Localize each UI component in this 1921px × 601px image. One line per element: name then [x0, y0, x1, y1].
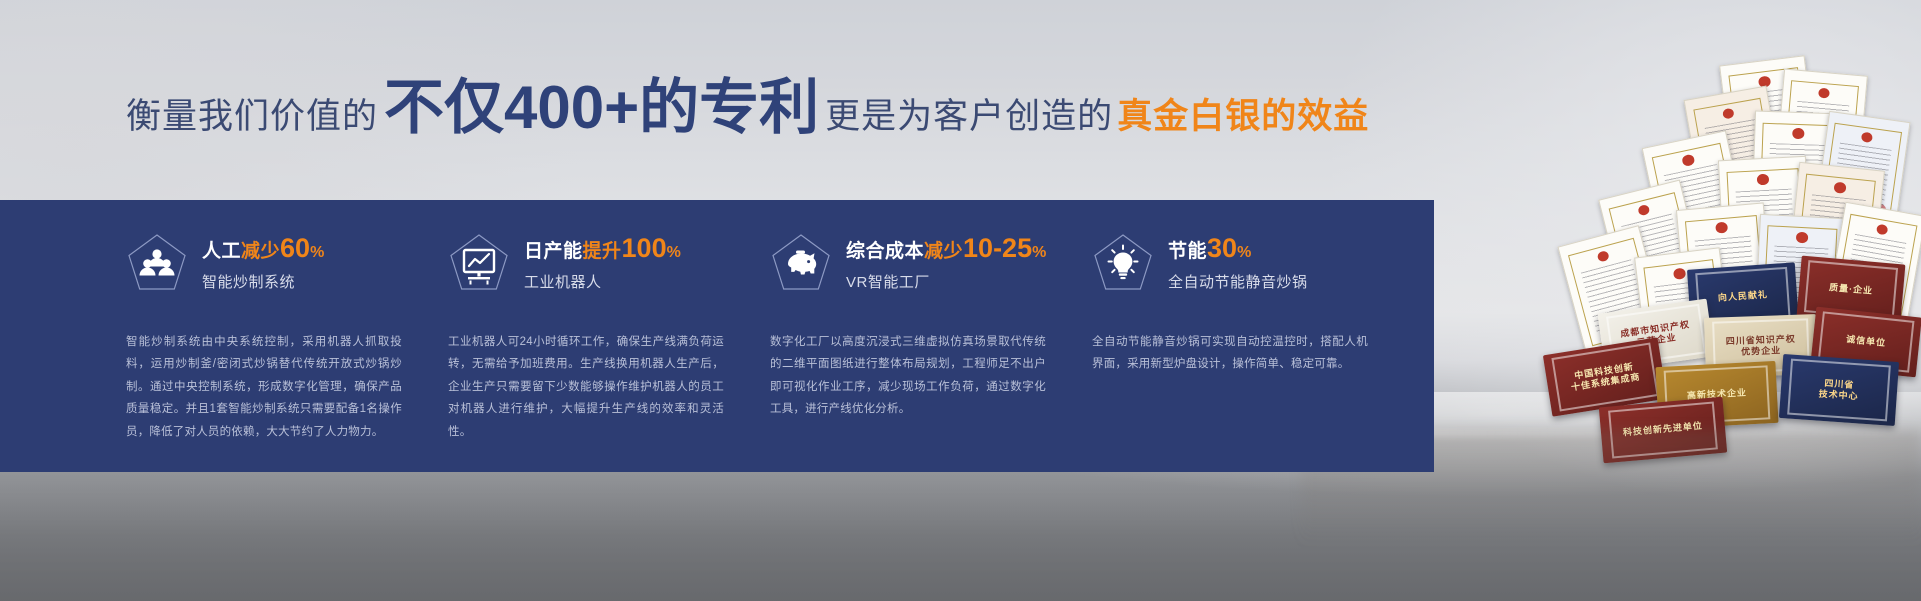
- feature-subtitle: 全自动节能静音炒锅: [1168, 271, 1308, 292]
- feature-titles: 节能30% 全自动节能静音炒锅: [1168, 234, 1308, 292]
- feature-header: 综合成本减少10-25% VR智能工厂: [770, 217, 1064, 309]
- feature-subtitle: VR智能工厂: [846, 271, 1047, 292]
- feature-item-energy: 节能30% 全自动节能静音炒锅 全自动节能静音炒锅可实现自动控温控时，搭配人机界…: [1092, 200, 1414, 472]
- feature-title: 节能30%: [1168, 234, 1308, 264]
- feature-title: 人工减少60%: [202, 234, 325, 264]
- feature-title-number: 30: [1207, 233, 1237, 263]
- feature-title-prefix: 人工: [202, 241, 241, 262]
- people-group-icon: [126, 232, 188, 294]
- feature-title-verb: 提升: [583, 241, 622, 262]
- feature-title-verb: 减少: [924, 241, 963, 262]
- feature-title-number: 60: [280, 233, 310, 263]
- feature-header: 人工减少60% 智能炒制系统: [126, 217, 420, 309]
- feature-item-capacity: 日产能提升100% 工业机器人 工业机器人可24小时循环工作，确保生产线满负荷运…: [448, 200, 770, 472]
- banner-stage: 向人民献礼 质量·企业 成都市知识产权 示范企业 四川省知识产权 优势企业 诚信…: [0, 0, 1921, 601]
- headline-strong: 不仅400+的专利: [384, 78, 819, 138]
- chart-board-icon: [448, 232, 510, 294]
- light-bulb-icon: [1092, 232, 1154, 294]
- feature-subtitle: 智能炒制系统: [202, 271, 325, 292]
- feature-header: 日产能提升100% 工业机器人: [448, 217, 742, 309]
- feature-title-number: 10-25: [963, 233, 1032, 263]
- feature-title-unit: %: [1237, 244, 1252, 261]
- feature-body: 工业机器人可24小时循环工作，确保生产线满负荷运转，无需给予加班费用。生产线换用…: [448, 331, 724, 443]
- feature-title-prefix: 综合成本: [846, 241, 924, 262]
- feature-titles: 综合成本减少10-25% VR智能工厂: [846, 234, 1047, 292]
- feature-body: 数字化工厂以高度沉浸式三维虚拟仿真场景取代传统的二维平面图纸进行整体布局规划，工…: [770, 331, 1046, 421]
- feature-titles: 人工减少60% 智能炒制系统: [202, 234, 325, 292]
- feature-body: 智能炒制系统由中央系统控制，采用机器人抓取投料，运用炒制釜/密闭式炒锅替代传统开…: [126, 331, 402, 443]
- piggy-bank-icon: [770, 232, 832, 294]
- feature-body: 全自动节能静音炒锅可实现自动控温控时，搭配人机界面，采用新型炉盘设计，操作简单、…: [1092, 331, 1368, 376]
- feature-item-cost: 综合成本减少10-25% VR智能工厂 数字化工厂以高度沉浸式三维虚拟仿真场景取…: [770, 200, 1092, 472]
- feature-subtitle: 工业机器人: [524, 271, 681, 292]
- headline-prefix: 衡量我们价值的: [126, 99, 378, 134]
- headline-middle: 更是为客户创造的: [825, 99, 1113, 134]
- feature-title-number: 100: [622, 233, 667, 263]
- feature-title-prefix: 日产能: [524, 241, 583, 262]
- feature-item-labor: 人工减少60% 智能炒制系统 智能炒制系统由中央系统控制，采用机器人抓取投料，运…: [126, 200, 448, 472]
- feature-title-unit: %: [1032, 244, 1047, 261]
- feature-title: 综合成本减少10-25%: [846, 234, 1047, 264]
- headline: 衡量我们价值的 不仅400+的专利 更是为客户创造的 真金白银的效益: [126, 78, 1369, 144]
- feature-header: 节能30% 全自动节能静音炒锅: [1092, 217, 1386, 309]
- feature-titles: 日产能提升100% 工业机器人: [524, 234, 681, 292]
- feature-title: 日产能提升100%: [524, 234, 681, 264]
- feature-title-prefix: 节能: [1168, 241, 1207, 262]
- feature-panel: 人工减少60% 智能炒制系统 智能炒制系统由中央系统控制，采用机器人抓取投料，运…: [0, 200, 1434, 472]
- feature-list: 人工减少60% 智能炒制系统 智能炒制系统由中央系统控制，采用机器人抓取投料，运…: [126, 200, 1416, 472]
- headline-accent: 真金白银的效益: [1117, 99, 1369, 134]
- feature-title-unit: %: [667, 244, 682, 261]
- feature-title-verb: 减少: [241, 241, 280, 262]
- feature-title-unit: %: [310, 244, 325, 261]
